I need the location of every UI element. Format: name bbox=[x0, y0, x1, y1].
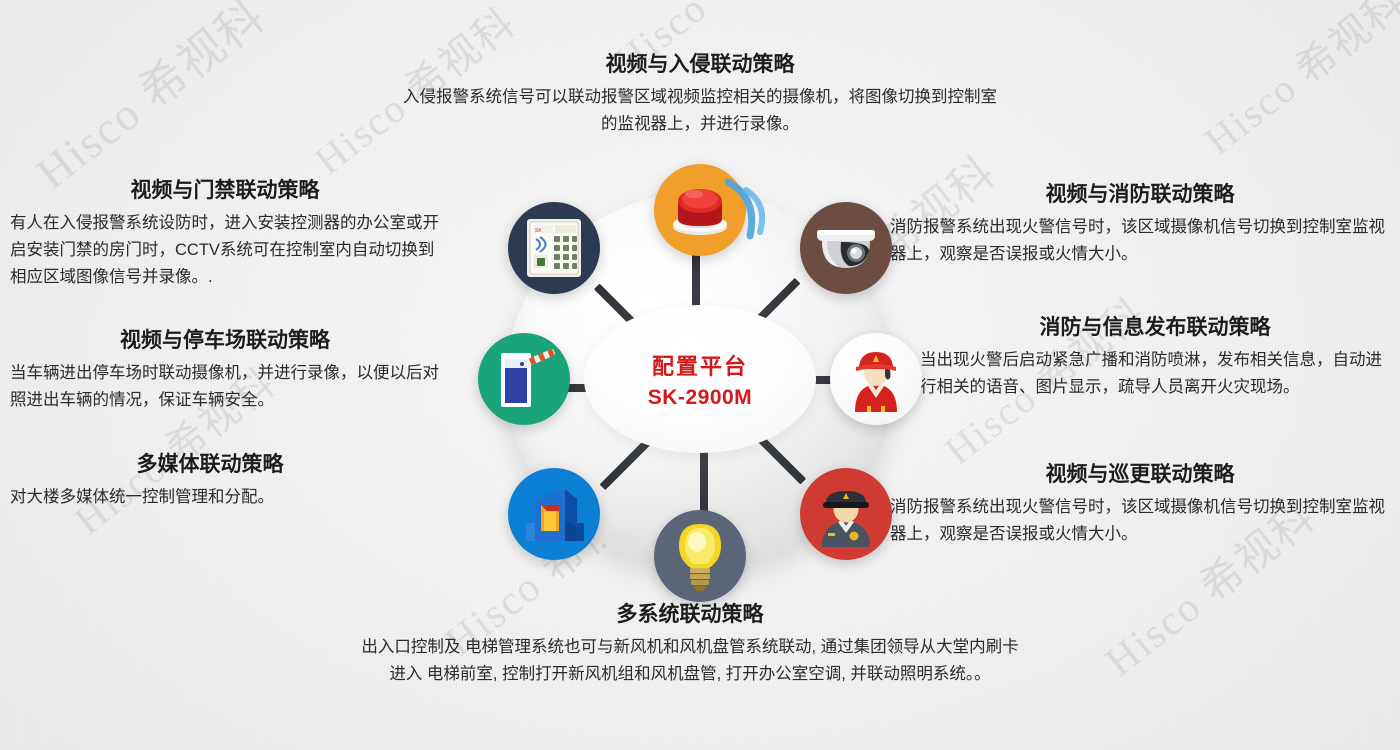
block-body: 出入口控制及 电梯管理系统也可与新风机和风机盘管系统联动, 通过集团领导从大堂内… bbox=[360, 634, 1020, 687]
diagram-canvas: Hisco 希视科 Hisco 希视科 Hisco 希视科 Hisco 希视科 … bbox=[0, 0, 1400, 750]
building-icon bbox=[521, 483, 587, 545]
strategy-block-patrol: 视频与巡更联动策略 消防报警系统出现火警信号时，该区域摄像机信号切换到控制室监视… bbox=[890, 462, 1390, 548]
strategy-block-parking: 视频与停车场联动策略 当车辆进出停车场时联动摄像机，并进行录像，以便以后对照进出… bbox=[10, 328, 440, 414]
strategy-block-access-control: 视频与门禁联动策略 有人在入侵报警系统设防时，进入安装控测器的办公室或开启安装门… bbox=[10, 178, 440, 290]
block-body: 当出现火警后启动紧急广播和消防喷淋，发布相关信息，自动进行相关的语音、图片显示，… bbox=[920, 347, 1390, 400]
firefighter-icon bbox=[845, 346, 907, 412]
strategy-block-info-release: 消防与信息发布联动策略 当出现火警后启动紧急广播和消防喷淋，发布相关信息，自动进… bbox=[920, 315, 1390, 401]
node-firefighter[interactable] bbox=[830, 333, 922, 425]
light-bulb-icon bbox=[671, 520, 729, 592]
node-building[interactable] bbox=[508, 468, 600, 560]
node-access-keypad[interactable]: SK bbox=[508, 202, 600, 294]
block-body: 对大楼多媒体统一控制管理和分配。 bbox=[10, 484, 410, 511]
block-title: 多系统联动策略 bbox=[360, 602, 1020, 627]
strategy-block-fire: 视频与消防联动策略 消防报警系统出现火警信号时，该区域摄像机信号切换到控制室监视… bbox=[890, 182, 1390, 268]
dome-camera-icon bbox=[811, 218, 881, 278]
access-keypad-icon: SK bbox=[521, 215, 587, 281]
strategy-block-multi-system: 多系统联动策略 出入口控制及 电梯管理系统也可与新风机和风机盘管系统联动, 通过… bbox=[360, 602, 1020, 688]
block-body: 有人在入侵报警系统设防时，进入安装控测器的办公室或开启安装门禁的房门时，CCTV… bbox=[10, 210, 440, 290]
block-title: 视频与门禁联动策略 bbox=[10, 178, 440, 203]
block-body: 消防报警系统出现火警信号时，该区域摄像机信号切换到控制室监视器上，观察是否误报或… bbox=[890, 214, 1390, 267]
block-body: 入侵报警系统信号可以联动报警区域视频监控相关的摄像机，将图像切换到控制室的监视器… bbox=[395, 84, 1005, 137]
sound-wave-icon bbox=[710, 164, 800, 254]
block-title: 消防与信息发布联动策略 bbox=[920, 315, 1390, 340]
security-guard-icon bbox=[814, 481, 878, 547]
node-parking-gate[interactable] bbox=[478, 333, 570, 425]
platform-model: SK-2900M bbox=[648, 386, 752, 410]
node-light-bulb[interactable] bbox=[654, 510, 746, 602]
watermark: Hisco 希视科 bbox=[20, 0, 277, 202]
block-title: 多媒体联动策略 bbox=[10, 452, 410, 477]
platform-title: 配置平台 bbox=[652, 349, 748, 381]
block-title: 视频与停车场联动策略 bbox=[10, 328, 440, 353]
block-title: 视频与入侵联动策略 bbox=[395, 52, 1005, 77]
node-dome-camera[interactable] bbox=[800, 202, 892, 294]
block-title: 视频与巡更联动策略 bbox=[890, 462, 1390, 487]
parking-gate-icon bbox=[491, 347, 557, 411]
block-body: 当车辆进出停车场时联动摄像机，并进行录像，以便以后对照进出车辆的情况，保证车辆安… bbox=[10, 360, 440, 413]
watermark: Hisco 希视科 bbox=[1190, 0, 1400, 166]
strategy-block-intrusion: 视频与入侵联动策略 入侵报警系统信号可以联动报警区域视频监控相关的摄像机，将图像… bbox=[395, 52, 1005, 138]
svg-text:SK: SK bbox=[535, 228, 542, 234]
hub-center-label: 配置平台 SK-2900M bbox=[584, 305, 816, 453]
strategy-block-multimedia: 多媒体联动策略 对大楼多媒体统一控制管理和分配。 bbox=[10, 452, 410, 511]
block-body: 消防报警系统出现火警信号时，该区域摄像机信号切换到控制室监视器上，观察是否误报或… bbox=[890, 494, 1390, 547]
block-title: 视频与消防联动策略 bbox=[890, 182, 1390, 207]
node-security-guard[interactable] bbox=[800, 468, 892, 560]
hub-wheel: 配置平台 SK-2900M bbox=[478, 170, 922, 590]
